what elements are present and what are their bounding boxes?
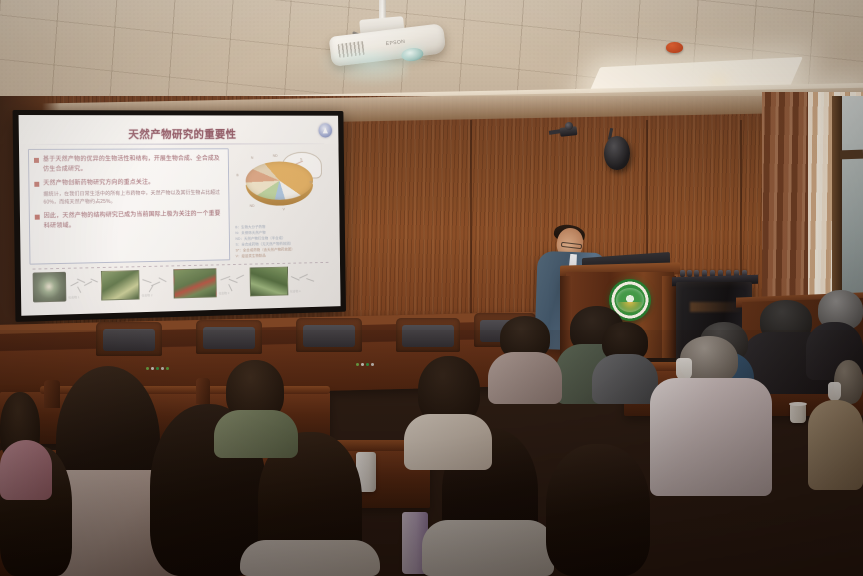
pie-slice-labels: B N ND S S* V ND (232, 148, 328, 224)
desk-microphone (146, 366, 176, 371)
dais-chair (396, 318, 460, 352)
pie-chart: B N ND S S* V ND (232, 148, 328, 224)
person-torso (422, 520, 554, 576)
person-torso (488, 352, 562, 404)
wall-panel-seam (470, 120, 472, 346)
presentation-slide: 天然产物研究的重要性 基于天然产物的优异的生物活性和结构，开展生物合成、全合成及… (19, 115, 341, 316)
person-hair (546, 444, 650, 576)
chemical-structure-2: 化合物 2 (140, 271, 173, 297)
slide-photo-strip: 化合物 1 化合物 2 (27, 265, 335, 302)
structure-caption: 化合物 2 (141, 293, 152, 297)
bullet-square-icon (34, 182, 39, 187)
person-torso (808, 400, 863, 490)
dais-chair (96, 322, 162, 356)
structure-caption: 化合物 4 (290, 289, 300, 293)
slide-bullet-box: 基于天然产物的优异的生物活性和结构，开展生物合成、全合成及仿生合成研究。 天然产… (28, 148, 230, 264)
projector-brand-label: EPSON (386, 39, 406, 47)
structure-caption: 化合物 1 (68, 295, 79, 299)
plant-photo-1 (101, 270, 140, 300)
slide-title: 天然产物研究的重要性 (25, 126, 333, 142)
slide-bullet: 基于天然产物的优异的生物活性和结构，开展生物合成、全合成及仿生合成研究。 (34, 154, 224, 174)
screen-surface: 天然产物研究的重要性 基于天然产物的优异的生物活性和结构，开展生物合成、全合成及… (19, 115, 341, 316)
slide-body: 基于天然产物的优异的生物活性和结构，开展生物合成、全合成及仿生合成研究。 天然产… (25, 148, 335, 265)
person-torso (404, 414, 492, 470)
bench-armrest (44, 380, 60, 408)
paper-cup (790, 404, 806, 423)
bullet-text: 基于天然产物的优异的生物活性和结构，开展生物合成、全合成及仿生合成研究。 (43, 154, 224, 174)
projection-screen: 天然产物研究的重要性 基于天然产物的优异的生物活性和结构，开展生物合成、全合成及… (13, 110, 346, 322)
chemical-structure-1: 化合物 1 (67, 273, 100, 300)
slide-chart-column: B N ND S S* V ND B：生物大分子药物 N：未修饰天然产 (232, 148, 332, 260)
ceiling-fire-alarm (666, 42, 683, 53)
green-leaf-photo (250, 267, 289, 297)
university-logo (319, 123, 333, 137)
slide-title-rule (35, 143, 324, 145)
av-rack-reflection (690, 302, 740, 312)
face-mask (676, 358, 692, 380)
person-torso (240, 540, 380, 576)
desk-microphone (356, 362, 386, 367)
slide-bullet: 天然产物创新药物研究方向的重点关注。 (34, 178, 223, 189)
structure-caption: 化合物 3 (219, 291, 230, 295)
red-flower-photo (173, 268, 216, 298)
chemical-structure-3: 化合物 3 (217, 269, 249, 295)
person-torso (592, 354, 658, 404)
bullet-square-icon (35, 215, 40, 220)
fungus-culture-photo (33, 272, 67, 303)
bullet-square-icon (34, 158, 39, 163)
chemical-structure-4: 化合物 4 (289, 268, 320, 294)
person-torso (214, 410, 298, 458)
person-torso (0, 440, 52, 500)
face-mask (828, 382, 841, 401)
legend-entry: V：疫苗类生物制品 (236, 252, 332, 260)
security-camera-lens-icon (565, 122, 573, 130)
dais-chair (196, 320, 262, 354)
bullet-text: 因此，天然产物的结构研究已成为当前国际上极为关注的一个重要科研领域。 (44, 210, 225, 232)
projector-beam-glow (318, 52, 408, 86)
podium-side (662, 276, 676, 358)
bullet-subtext: 据统计，在我们日常生活中的所有上市药物中，天然产物以及其衍生物占比超过60%，而… (43, 190, 224, 207)
wall-speaker (604, 136, 630, 170)
person-torso (650, 378, 772, 496)
slide-bullet: 因此，天然产物的结构研究已成为当前国际上极为关注的一个重要科研领域。 (35, 210, 224, 232)
dais-chair (296, 318, 362, 352)
lecture-hall-photo: EPSON 天然产物研究的重要性 (0, 0, 863, 576)
chart-legend: B：生物大分子药物 N：未修饰天然产物 ND：天然产物衍生物（半合成） S：全合… (233, 224, 332, 260)
ceiling-downlight (712, 78, 725, 85)
window-mullion (840, 150, 863, 160)
bullet-text: 天然产物创新药物研究方向的重点关注。 (43, 178, 154, 188)
bench-armrest (196, 378, 210, 404)
